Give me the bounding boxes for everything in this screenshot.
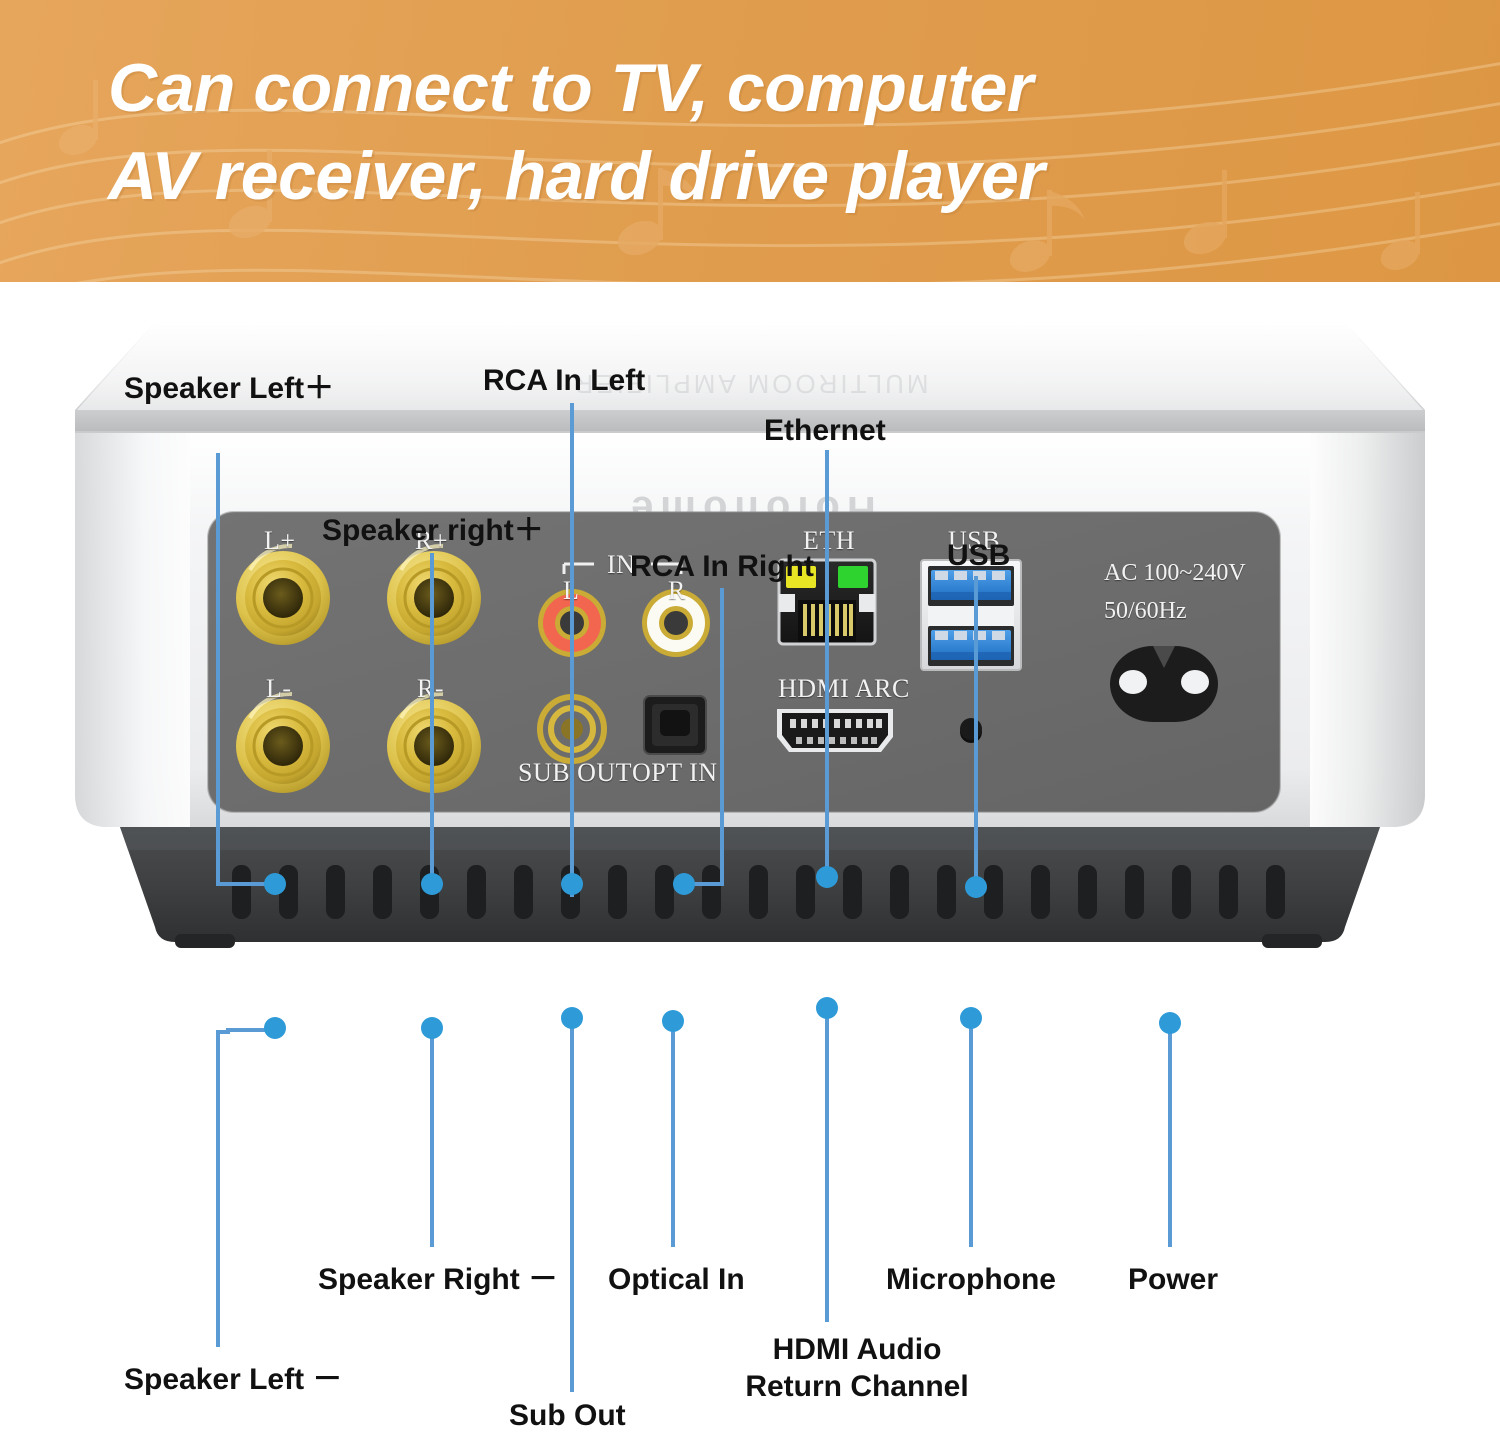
callout-labels: Speaker Left＋ Speaker right＋ RCA In Left… <box>0 0 1500 1430</box>
callout-speaker-right-plus: Speaker right＋ <box>322 513 544 550</box>
callout-power: Power <box>1128 1262 1218 1299</box>
callout-optical-in: Optical In <box>608 1262 745 1299</box>
callout-microphone: Microphone <box>886 1262 1056 1299</box>
callout-ethernet: Ethernet <box>764 413 886 450</box>
callout-hdmi-arc: HDMI Audio Return Channel <box>722 1332 992 1405</box>
callout-usb: USB <box>947 538 1010 575</box>
callout-rca-in-left: RCA In Left <box>483 363 645 400</box>
callout-sub-out: Sub Out <box>509 1398 626 1435</box>
callout-speaker-right-minus: Speaker Right － <box>318 1262 558 1299</box>
callout-speaker-left-minus: Speaker Left － <box>124 1362 342 1399</box>
callout-speaker-left-plus: Speaker Left＋ <box>124 371 334 408</box>
callout-rca-in-right: RCA In Right <box>630 549 814 586</box>
